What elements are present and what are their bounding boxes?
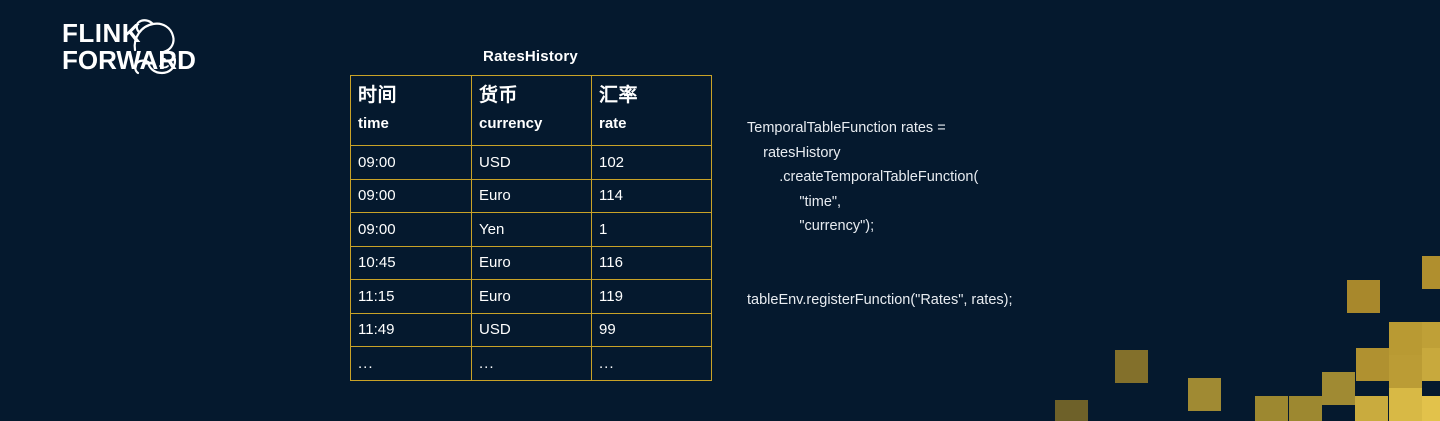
code-snippet-create-temporal-table: TemporalTableFunction rates = ratesHisto… <box>747 116 978 239</box>
cell-currency: USD <box>472 146 592 180</box>
column-header-currency-en: currency <box>479 115 591 133</box>
cell-time: 11:15 <box>351 280 472 314</box>
code-snippet-register-function: tableEnv.registerFunction("Rates", rates… <box>747 288 1013 313</box>
table-row: 09:00 Yen 1 <box>351 213 712 247</box>
column-header-time: 时间 time <box>351 76 472 146</box>
cell-rate: 114 <box>592 179 712 213</box>
cell-rate: 1 <box>592 213 712 247</box>
table-header-row: 时间 time 货币 currency 汇率 rate <box>351 76 712 146</box>
cell-currency: Euro <box>472 280 592 314</box>
mosaic-tile <box>1422 396 1440 421</box>
cell-time: 09:00 <box>351 179 472 213</box>
mosaic-tile <box>1355 396 1388 421</box>
cell-rate: 116 <box>592 246 712 280</box>
cell-currency: USD <box>472 313 592 347</box>
mosaic-tile <box>1356 348 1389 381</box>
table-row: 11:15 Euro 119 <box>351 280 712 314</box>
table-row: 09:00 Euro 114 <box>351 179 712 213</box>
mosaic-tile <box>1389 388 1422 421</box>
flink-forward-logo: FLINK FORWARD <box>52 18 252 78</box>
rates-history-table-block: RatesHistory 时间 time 货币 currency 汇率 rate <box>350 48 711 381</box>
column-header-rate: 汇率 rate <box>592 76 712 146</box>
table-title: RatesHistory <box>350 48 711 65</box>
column-header-rate-en: rate <box>599 115 711 133</box>
cell-time: 11:49 <box>351 313 472 347</box>
cell-currency: Euro <box>472 179 592 213</box>
mosaic-tile <box>1289 396 1322 421</box>
table-row: 11:49 USD 99 <box>351 313 712 347</box>
squirrel-logo-icon <box>127 16 187 78</box>
mosaic-tile <box>1322 372 1355 405</box>
mosaic-tile <box>1422 256 1440 289</box>
column-header-currency: 货币 currency <box>472 76 592 146</box>
cell-time: ... <box>351 347 472 381</box>
table-row: 09:00 USD 102 <box>351 146 712 180</box>
mosaic-tile <box>1188 378 1221 411</box>
cell-time: 10:45 <box>351 246 472 280</box>
column-header-time-en: time <box>358 115 471 133</box>
rates-history-table: 时间 time 货币 currency 汇率 rate 09:00 USD 10… <box>350 75 712 381</box>
cell-currency: ... <box>472 347 592 381</box>
cell-rate: 102 <box>592 146 712 180</box>
cell-time: 09:00 <box>351 146 472 180</box>
cell-time: 09:00 <box>351 213 472 247</box>
cell-currency: Yen <box>472 213 592 247</box>
mosaic-tile <box>1389 322 1422 355</box>
cell-rate: ... <box>592 347 712 381</box>
mosaic-tile <box>1115 350 1148 383</box>
mosaic-tile <box>1422 322 1440 355</box>
column-header-rate-cn: 汇率 <box>599 83 711 108</box>
table-row: 10:45 Euro 116 <box>351 246 712 280</box>
cell-rate: 119 <box>592 280 712 314</box>
mosaic-tile <box>1255 396 1288 421</box>
mosaic-tile <box>1055 400 1088 421</box>
cell-rate: 99 <box>592 313 712 347</box>
decorative-mosaic <box>1000 231 1440 421</box>
mosaic-tile <box>1347 280 1380 313</box>
table-row-ellipsis: ... ... ... <box>351 347 712 381</box>
column-header-currency-cn: 货币 <box>479 83 591 108</box>
mosaic-tile <box>1389 355 1422 388</box>
mosaic-tile <box>1422 348 1440 381</box>
column-header-time-cn: 时间 <box>358 83 471 108</box>
cell-currency: Euro <box>472 246 592 280</box>
